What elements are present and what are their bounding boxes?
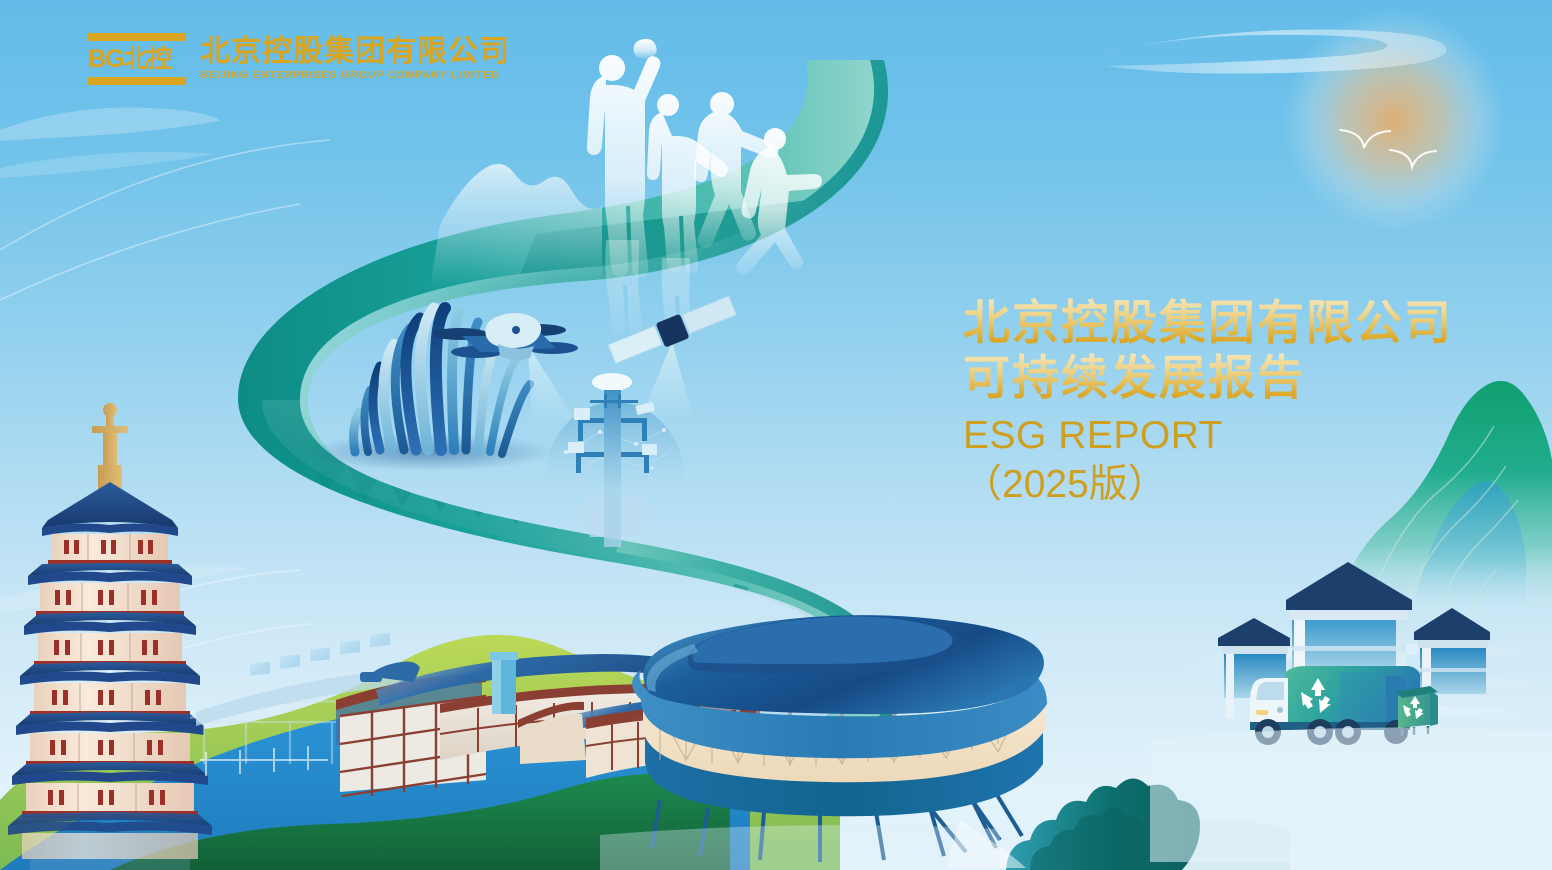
brand-name-en: BEIJING ENTERPRISES GROUP COMPANY LIMITE…	[200, 69, 510, 82]
esg-report-cover: BG北控 北京控股集团有限公司 BEIJING ENTERPRISES GROU…	[0, 0, 1552, 870]
cover-title-block: 北京控股集团有限公司 可持续发展报告 ESG REPORT （2025版）	[963, 296, 1503, 508]
logo-bar-top	[88, 33, 186, 41]
ground-haze	[600, 728, 1552, 870]
title-line-1: 北京控股集团有限公司	[963, 296, 1503, 351]
brand-name-cn: 北京控股集团有限公司	[200, 36, 510, 68]
logo-bar-bottom	[88, 77, 186, 85]
title-line-2: 可持续发展报告	[963, 351, 1503, 406]
title-line-english: ESG REPORT	[963, 414, 1503, 458]
brand-logo[interactable]: BG北控 北京控股集团有限公司 BEIJING ENTERPRISES GROU…	[88, 33, 510, 85]
brand-wordmark: 北京控股集团有限公司 BEIJING ENTERPRISES GROUP COM…	[200, 36, 510, 81]
bg-logo-mark: BG北控	[88, 33, 186, 85]
logo-mark-text: BG北控	[88, 42, 186, 76]
title-edition: （2025版）	[963, 462, 1503, 509]
